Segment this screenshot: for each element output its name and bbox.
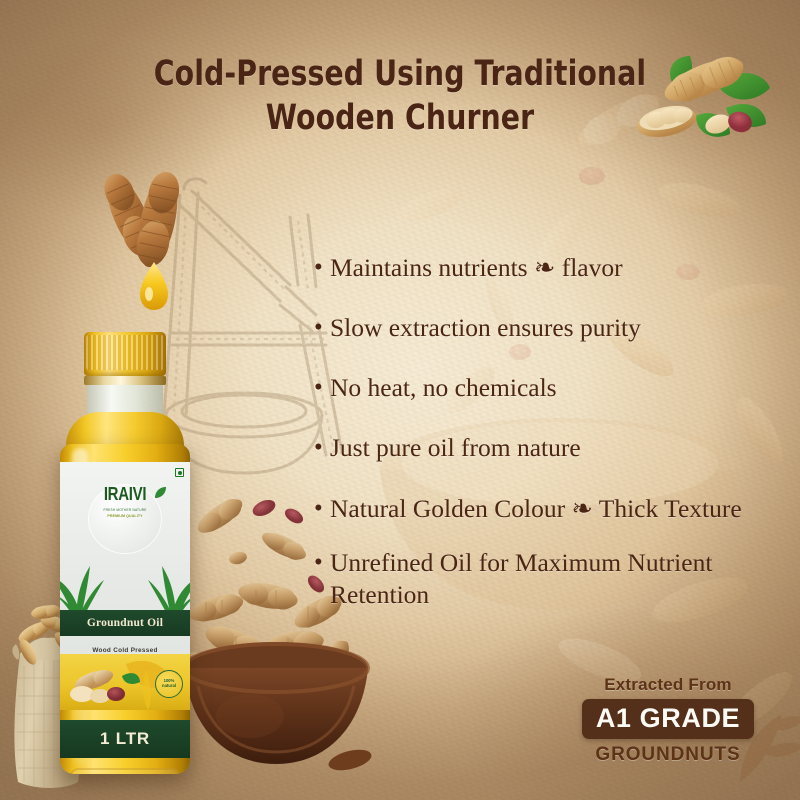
bullet-dot-icon: • (314, 252, 328, 284)
bottle-cap (84, 332, 166, 376)
natural-seal: 100% natural (155, 670, 183, 698)
peanut-cluster-icon (634, 46, 784, 156)
badge-bottom-label: GROUNDNUTS (582, 744, 754, 766)
product-name: Groundnut Oil (87, 617, 163, 629)
product-bottle: IRAIVI FRESH MOTHER NATURE PREMIUM QUALI… (56, 332, 196, 780)
product-label: IRAIVI FRESH MOTHER NATURE PREMIUM QUALI… (60, 462, 190, 710)
bullet-dot-icon: • (314, 372, 328, 404)
list-item-label: Natural Golden Colour ❧ Thick Texture (330, 493, 784, 525)
list-item-label: Slow extraction ensures purity (330, 312, 784, 344)
bullet-dot-icon: • (314, 432, 328, 464)
poster-canvas: Cold-Pressed Using Traditional Wooden Ch… (0, 0, 800, 800)
bottle-cap-ring (84, 376, 166, 385)
list-item-label: No heat, no chemicals (330, 372, 784, 404)
list-item: • Just pure oil from nature (314, 432, 784, 464)
product-name-bar: Groundnut Oil (60, 610, 190, 636)
list-item-label: Maintains nutrients ❧ flavor (330, 252, 784, 284)
vegetarian-mark-icon (175, 468, 184, 477)
list-item-label: Unrefined Oil for Maximum Nutrient Reten… (330, 547, 784, 611)
volume-bar: 1 LTR (60, 720, 190, 758)
bottle-base-panel (70, 768, 180, 774)
brand-tagline: FRESH MOTHER NATURE (60, 508, 190, 512)
hanging-peanut-svg (96, 158, 208, 314)
bullet-dot-icon: • (314, 493, 328, 525)
bullet-dot-icon: • (314, 312, 328, 344)
badge-grade-label: A1 GRADE (582, 699, 754, 739)
bottle-body: IRAIVI FRESH MOTHER NATURE PREMIUM QUALI… (60, 444, 190, 774)
peanut-cluster-svg (634, 46, 784, 156)
list-item: • No heat, no chemicals (314, 372, 784, 404)
peanut-with-oil-drop-icon (96, 158, 208, 314)
list-item: • Maintains nutrients ❧ flavor (314, 252, 784, 284)
headline-line-1: Cold-Pressed Using Traditional (154, 54, 646, 94)
leaf-icon (154, 486, 167, 499)
list-item: • Unrefined Oil for Maximum Nutrient Ret… (314, 547, 784, 611)
bullet-dot-icon: • (314, 547, 328, 579)
brand-name: IRAIVI (60, 484, 190, 505)
list-item: • Slow extraction ensures purity (314, 312, 784, 344)
product-process: Wood Cold Pressed (60, 647, 190, 654)
brand-tagline-small: PREMIUM QUALITY (60, 514, 190, 518)
benefits-list: • Maintains nutrients ❧ flavor • Slow ex… (314, 252, 784, 633)
volume-label: 1 LTR (100, 729, 150, 749)
label-peanut-photo: 100% natural (60, 654, 190, 710)
list-item: • Natural Golden Colour ❧ Thick Texture (314, 493, 784, 525)
grade-badge: Extracted From A1 GRADE GROUNDNUTS (582, 675, 754, 766)
list-item-label: Just pure oil from nature (330, 432, 784, 464)
badge-top-label: Extracted From (582, 675, 754, 695)
natural-seal-line2: natural (162, 684, 176, 689)
